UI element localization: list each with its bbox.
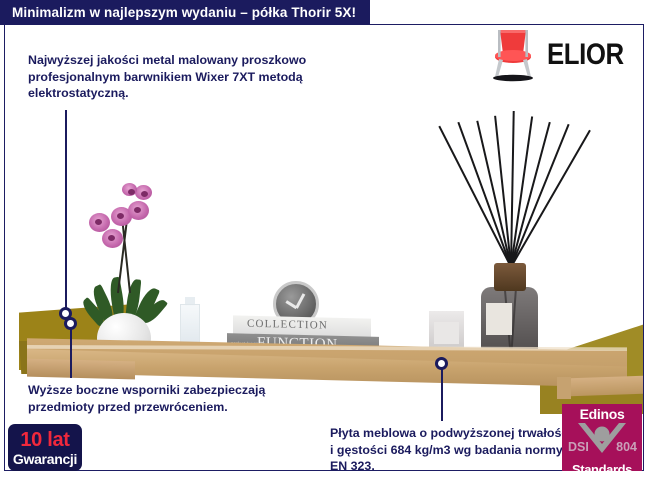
- red-chair-icon: [487, 28, 539, 82]
- warranty-years: 10 lat: [20, 430, 69, 450]
- callout-line-metal: [65, 110, 67, 313]
- candle-label: [434, 322, 459, 344]
- edinos-standards-badge: Edinos DSI 804 Standards: [562, 404, 642, 471]
- callout-line-brackets: [70, 323, 72, 378]
- callout-text-metal: Najwyższej jakości metal malowany proszk…: [28, 52, 358, 102]
- edinos-number: 804: [616, 440, 637, 454]
- callout-dot-board: [435, 357, 448, 370]
- edinos-mark-icon: DSI 804: [562, 422, 642, 452]
- banner-title: Minimalizm w najlepszym wydaniu – półka …: [12, 5, 356, 20]
- callout-line-board: [441, 363, 443, 421]
- product-infographic: COLLECTION perfect functions FUNCTION: [0, 0, 650, 477]
- warranty-label: Gwarancji: [13, 452, 77, 466]
- callout-dot-brackets: [64, 317, 77, 330]
- book-collection-title: COLLECTION: [247, 318, 328, 332]
- warranty-badge: 10 lat Gwarancji: [8, 424, 82, 471]
- callout-text-board: Płyta meblowa o podwyższonej trwałości i…: [330, 425, 575, 475]
- brand-name: ELIOR: [547, 38, 624, 72]
- edinos-standards-label: Standards: [572, 462, 632, 477]
- callout-text-brackets: Wyższe boczne wsporniki zabezpieczają pr…: [28, 382, 328, 415]
- left-bracket-wood-rail: [27, 359, 135, 380]
- right-bracket-wood-rail: [563, 375, 643, 396]
- brand-logo: ELIOR: [487, 28, 636, 82]
- header-banner: Minimalizm w najlepszym wydaniu – półka …: [0, 0, 370, 25]
- edinos-dsi: DSI: [568, 440, 589, 454]
- edinos-brand: Edinos: [580, 406, 625, 422]
- right-bracket-wood-end: [557, 377, 571, 399]
